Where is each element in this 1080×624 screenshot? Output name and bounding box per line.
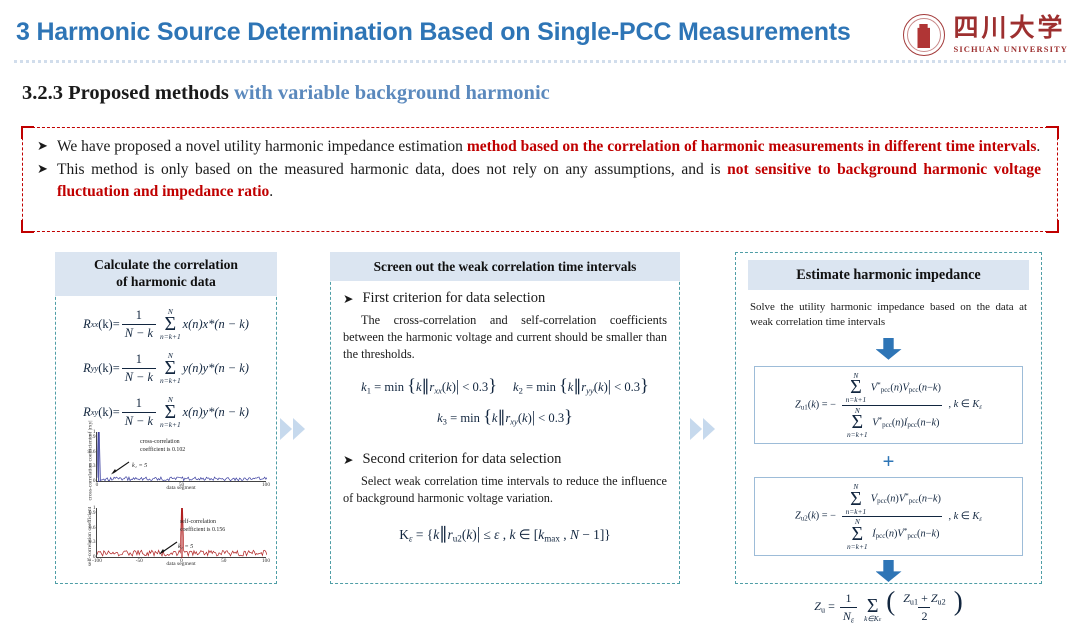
bullet-marker-icon: ➤ bbox=[343, 291, 353, 307]
formula-ryy-body: y(n)y*(n − k) bbox=[183, 361, 249, 376]
chart-cross-annotation-l2: coefficient is 0.102 bbox=[140, 447, 185, 455]
bullet-marker-icon: ➤ bbox=[37, 136, 57, 156]
formula-ryy-frac: 1 N − k bbox=[122, 352, 156, 385]
bullet-1-seg-2-highlight: method based on the correlation of harmo… bbox=[467, 138, 1037, 155]
formula-rxy-sum-lower: n=k+1 bbox=[160, 421, 181, 428]
formula-rxx-num: 1 bbox=[133, 308, 145, 324]
chart-cross-annotation: cross-correlation coefficient is 0.102 bbox=[140, 439, 185, 454]
equation-zu1-fraction: NΣn=k+1 V̇*pcc(n)V̇pcc(n−k) NΣn=k+1 V̇*p… bbox=[841, 372, 944, 439]
university-seal-icon bbox=[903, 14, 945, 56]
panel-left-header-line2: of harmonic data bbox=[59, 273, 273, 290]
flow-arrow-left-to-middle bbox=[280, 418, 305, 440]
chart-cross-ytick-2: 0.6 bbox=[89, 449, 96, 455]
sigma-icon: Σ bbox=[165, 316, 177, 333]
slide-header: 3 Harmonic Source Determination Based on… bbox=[0, 0, 1080, 68]
equation-final-coef: 1 Nε bbox=[840, 591, 857, 624]
bullet-marker-icon: ➤ bbox=[343, 452, 353, 468]
section-heading: 3.2.3 Proposed methods with variable bac… bbox=[22, 82, 550, 105]
bullet-2-seg-1: This method is only based on the measure… bbox=[57, 161, 727, 178]
equation-zu1-denominator: NΣn=k+1 V̇*pcc(n)İpcc(n−k) bbox=[842, 405, 942, 439]
formula-rxx-sum-lower: n=k+1 bbox=[160, 333, 181, 340]
criterion-2-equation: Kε = {k∥ru2(k)| ≤ ε , k ∈ [kmax , N − 1]… bbox=[343, 523, 667, 544]
panel-left-header: Calculate the correlation of harmonic da… bbox=[55, 252, 277, 296]
panel-left-header-line1: Calculate the correlation bbox=[59, 256, 273, 273]
criterion-2-title: Second criterion for data selection bbox=[362, 451, 561, 468]
formula-ryy-num: 1 bbox=[133, 352, 145, 368]
chart-self-annotation: self-correlation coefficient is 0.156 bbox=[180, 519, 225, 534]
criterion-1-title: First criterion for data selection bbox=[362, 290, 545, 307]
equation-k2: k2 = min {k∥ryy(k)| < 0.3} bbox=[513, 375, 649, 396]
chart-self-ytick-1: 0.9 bbox=[89, 510, 96, 516]
bullet-1-seg-3: . bbox=[1036, 138, 1040, 155]
formula-ryy-sum-lower: n=k+1 bbox=[160, 377, 181, 384]
equation-zu2-numerator: NΣn=k+1 V̇pcc(n)V̇*pcc(n−k) bbox=[841, 483, 944, 516]
equation-zu-final: Zu = 1 Nε Σk∈Kε ( Zu1 + Zu2 2 ) bbox=[750, 586, 1027, 624]
criterion-2-body: Select weak correlation time intervals t… bbox=[343, 473, 667, 506]
panel-screen-weak-correlation: Screen out the weak correlation time int… bbox=[330, 252, 680, 584]
callout-bullet-2: ➤ This method is only based on the measu… bbox=[37, 159, 1041, 202]
equation-zu1: Zu1(k) = − NΣn=k+1 V̇*pcc(n)V̇pcc(n−k) N… bbox=[795, 372, 982, 439]
formula-rxx-arg: (k) bbox=[98, 317, 112, 332]
formula-ryy-arg: (k) bbox=[98, 361, 112, 376]
formula-rxx-den: N − k bbox=[122, 324, 156, 341]
criterion-1-equation-k3: k3 = min {k∥rxy(k)| < 0.3} bbox=[343, 406, 667, 427]
chart-self-annotation-l2: coefficient is 0.156 bbox=[180, 527, 225, 535]
chevron-right-icon bbox=[703, 418, 715, 440]
criterion-1-heading: ➤ First criterion for data selection bbox=[343, 290, 667, 307]
chart-cross-marker-label: k₁ = 5 bbox=[132, 462, 147, 469]
equation-zu2: Zu2(k) = − NΣn=k+1 V̇pcc(n)V̇*pcc(n−k) N… bbox=[795, 483, 982, 550]
equation-kset: Kε = {k∥ru2(k)| ≤ ε , k ∈ [kmax , N − 1]… bbox=[399, 523, 610, 544]
formula-rxx-lhs: R bbox=[83, 317, 91, 332]
chart-self-xlabel: data segment bbox=[96, 561, 266, 567]
formula-rxy-body: x(n)y*(n − k) bbox=[183, 405, 249, 420]
formula-ryy-sigma: N Σ n=k+1 bbox=[160, 352, 181, 384]
sigma-icon: Σ bbox=[165, 404, 177, 421]
chevron-right-icon bbox=[293, 418, 305, 440]
equation-k3: k3 = min {k∥rxy(k)| < 0.3} bbox=[437, 406, 573, 427]
equation-zu2-fraction: NΣn=k+1 V̇pcc(n)V̇*pcc(n−k) NΣn=k+1 İpc… bbox=[841, 483, 944, 550]
sigma-icon-zu2-den: NΣn=k+1 bbox=[847, 518, 868, 550]
panel-right-body: Solve the utility harmonic impedance bas… bbox=[736, 290, 1041, 624]
chart-cross-xlabel: data segment bbox=[96, 485, 266, 491]
formula-rxy-sigma: N Σ n=k+1 bbox=[160, 396, 181, 428]
logo-chinese-name: 四川大学 bbox=[954, 16, 1069, 41]
equation-zu2-condition: , k ∈ Kε bbox=[948, 511, 982, 522]
formula-ryy-den: N − k bbox=[122, 368, 156, 385]
university-logo: 四川大学 SICHUAN UNIVERSITY bbox=[903, 14, 1069, 56]
equation-box-zu1: Zu1(k) = − NΣn=k+1 V̇*pcc(n)V̇pcc(n−k) N… bbox=[754, 366, 1023, 445]
correlation-formula-group: Rxx(k)= 1 N − k N Σ n=k+1 x(n)x*(n − k) … bbox=[56, 296, 276, 429]
equation-zu1-numerator: NΣn=k+1 V̇*pcc(n)V̇pcc(n−k) bbox=[841, 372, 944, 405]
chart-cross-ytick-3: 0.3 bbox=[89, 463, 96, 469]
panel-middle-header: Screen out the weak correlation time int… bbox=[330, 252, 680, 281]
equation-final-fraction: Zu1 + Zu2 2 bbox=[900, 591, 948, 624]
chart-self-pointer-icon bbox=[156, 541, 178, 555]
sigma-icon-zu2-num: NΣn=k+1 bbox=[846, 483, 867, 515]
criterion-1-equations: k1 = min {k∥rxx(k)| < 0.3} k2 = min {k∥r… bbox=[343, 375, 667, 396]
formula-ryy-lhs: R bbox=[83, 361, 91, 376]
panel-right-intro: Solve the utility harmonic impedance bas… bbox=[750, 300, 1027, 331]
page-title: 3 Harmonic Source Determination Based on… bbox=[16, 18, 851, 47]
equation-final-expr: Zu = 1 Nε Σk∈Kε ( Zu1 + Zu2 2 ) bbox=[814, 586, 962, 624]
equation-box-zu2: Zu2(k) = − NΣn=k+1 V̇pcc(n)V̇*pcc(n−k) N… bbox=[754, 477, 1023, 556]
header-divider bbox=[14, 60, 1066, 63]
threshold-value-2: 0.3 bbox=[624, 380, 640, 394]
corner-mark-tr bbox=[1046, 126, 1059, 139]
formula-rxx: Rxx(k)= 1 N − k N Σ n=k+1 x(n)x*(n − k) bbox=[60, 308, 272, 341]
flow-arrow-middle-to-right bbox=[690, 418, 715, 440]
formula-rxx-sub: xx bbox=[91, 319, 98, 329]
chart-self-marker-label: k₂ = 5 bbox=[178, 543, 193, 550]
sigma-icon-final: Σk∈Kε bbox=[864, 591, 881, 624]
equation-zu1-condition: , k ∈ Kε bbox=[948, 399, 982, 410]
down-arrow-icon-2 bbox=[876, 560, 902, 582]
formula-rxy-den: N − k bbox=[122, 412, 156, 429]
equation-k1: k1 = min {k∥rxx(k)| < 0.3} bbox=[361, 375, 497, 396]
panel-calculate-correlation: Calculate the correlation of harmonic da… bbox=[55, 252, 277, 584]
threshold-value-1: 0.3 bbox=[472, 380, 488, 394]
sigma-icon: Σ bbox=[165, 360, 177, 377]
criterion-2-heading: ➤ Second criterion for data selection bbox=[343, 451, 667, 468]
bullet-1-seg-1: We have proposed a novel utility harmoni… bbox=[57, 138, 467, 155]
chevron-right-icon bbox=[280, 418, 292, 440]
corner-mark-br bbox=[1046, 220, 1059, 233]
formula-rxy-sub: xy bbox=[91, 407, 98, 417]
section-subtitle: with variable background harmonic bbox=[234, 82, 550, 104]
chart-self-ytick-2: 0.6 bbox=[89, 525, 96, 531]
formula-ryy: Ryy(k)= 1 N − k N Σ n=k+1 y(n)y*(n − k) bbox=[60, 352, 272, 385]
panel-estimate-impedance: Estimate harmonic impedance Solve the ut… bbox=[735, 252, 1042, 584]
chart-cross-correlation: cross-correlation coefficient of |rxy| 1… bbox=[62, 429, 274, 501]
formula-rxy-num: 1 bbox=[133, 396, 145, 412]
section-number-title: 3.2.3 Proposed methods bbox=[22, 82, 229, 104]
plus-icon: + bbox=[883, 451, 895, 472]
panel-right-header: Estimate harmonic impedance bbox=[748, 260, 1029, 290]
chart-cross-pointer-icon bbox=[108, 461, 130, 475]
logo-english-name: SICHUAN UNIVERSITY bbox=[954, 44, 1069, 54]
panel-middle-body: ➤ First criterion for data selection The… bbox=[331, 281, 679, 544]
formula-rxx-body: x(n)x*(n − k) bbox=[183, 317, 249, 332]
sigma-icon-zu1-den: NΣn=k+1 bbox=[847, 407, 868, 439]
callout-bullet-1-text: We have proposed a novel utility harmoni… bbox=[57, 136, 1041, 157]
sigma-icon-zu1-num: NΣn=k+1 bbox=[846, 372, 867, 404]
chart-self-correlation: self-correlation coefficient 1 0.9 0.6 0… bbox=[62, 505, 274, 577]
chart-cross-annotation-l1: cross-correlation bbox=[140, 439, 185, 447]
threshold-value-3: 0.3 bbox=[548, 411, 564, 425]
formula-ryy-sub: yy bbox=[91, 363, 98, 373]
criterion-1-body: The cross-correlation and self-correlati… bbox=[343, 312, 667, 362]
equation-zu2-denominator: NΣn=k+1 İpcc(n)V̇*pcc(n−k) bbox=[842, 516, 942, 550]
formula-rxx-frac: 1 N − k bbox=[122, 308, 156, 341]
chart-self-annotation-l1: self-correlation bbox=[180, 519, 225, 527]
formula-rxx-sigma: N Σ n=k+1 bbox=[160, 308, 181, 340]
callout-bullet-2-text: This method is only based on the measure… bbox=[57, 159, 1041, 202]
chart-cross-ytick-1: 0.9 bbox=[89, 434, 96, 440]
formula-rxy-frac: 1 N − k bbox=[122, 396, 156, 429]
formula-rxy-lhs: R bbox=[83, 405, 91, 420]
bullet-marker-icon: ➤ bbox=[37, 159, 57, 179]
corner-mark-tl bbox=[21, 126, 34, 139]
summary-callout: ➤ We have proposed a novel utility harmo… bbox=[22, 127, 1058, 232]
formula-rxy-arg: (k) bbox=[98, 405, 112, 420]
plus-connector: + bbox=[876, 451, 902, 471]
bullet-2-seg-3: . bbox=[269, 183, 273, 200]
chevron-right-icon bbox=[690, 418, 702, 440]
chart-self-ytick-3: 0.3 bbox=[89, 539, 96, 545]
callout-bullet-1: ➤ We have proposed a novel utility harmo… bbox=[37, 136, 1041, 157]
down-arrow-icon-1 bbox=[876, 338, 902, 360]
corner-mark-bl bbox=[21, 220, 34, 233]
